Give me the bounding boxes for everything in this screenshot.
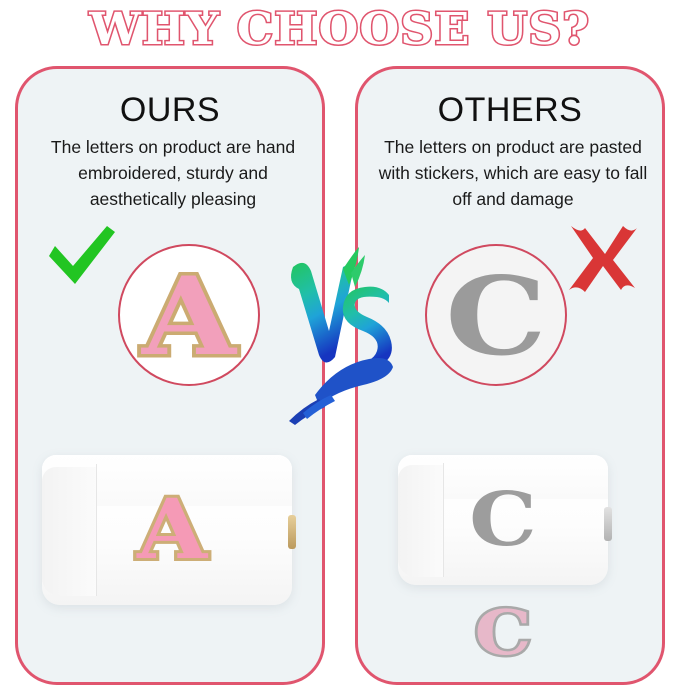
sticker-letter-c: C [445,263,546,371]
zipper-pull-gold-icon [288,515,296,549]
fallen-off-patch: C [468,600,538,666]
bag-patch-letter-a: A [137,489,207,571]
page-title-text: WHY CHOOSE US? [89,8,590,52]
bag-side-ours [42,467,97,596]
patch-circle-others: C [425,244,567,386]
check-icon [45,222,119,296]
product-image-others: C [398,455,608,585]
patch-circle-ours: A [118,244,260,386]
bag-seam-ours [96,464,97,596]
bag-seam-others [443,463,444,577]
vs-divider-icon [285,245,397,425]
panel-ours-body: The letters on product are hand embroide… [30,135,316,213]
panel-ours-heading: OURS [18,91,322,130]
product-image-ours: A [42,455,292,605]
chenille-patch-letter-a: A [142,263,236,371]
panel-others-heading: OTHERS [358,91,662,130]
bag-side-others [398,465,444,577]
cross-icon [565,222,639,296]
comparison-infographic: WHY CHOOSE US? OURS The letters on produ… [0,0,679,689]
page-title: WHY CHOOSE US? [0,2,679,58]
zipper-pull-silver-icon [604,507,612,541]
panel-others-body: The letters on product are pasted with s… [370,135,656,213]
fallen-patch-letter-c: C [475,602,532,664]
bag-sticker-letter-c: C [469,483,537,557]
